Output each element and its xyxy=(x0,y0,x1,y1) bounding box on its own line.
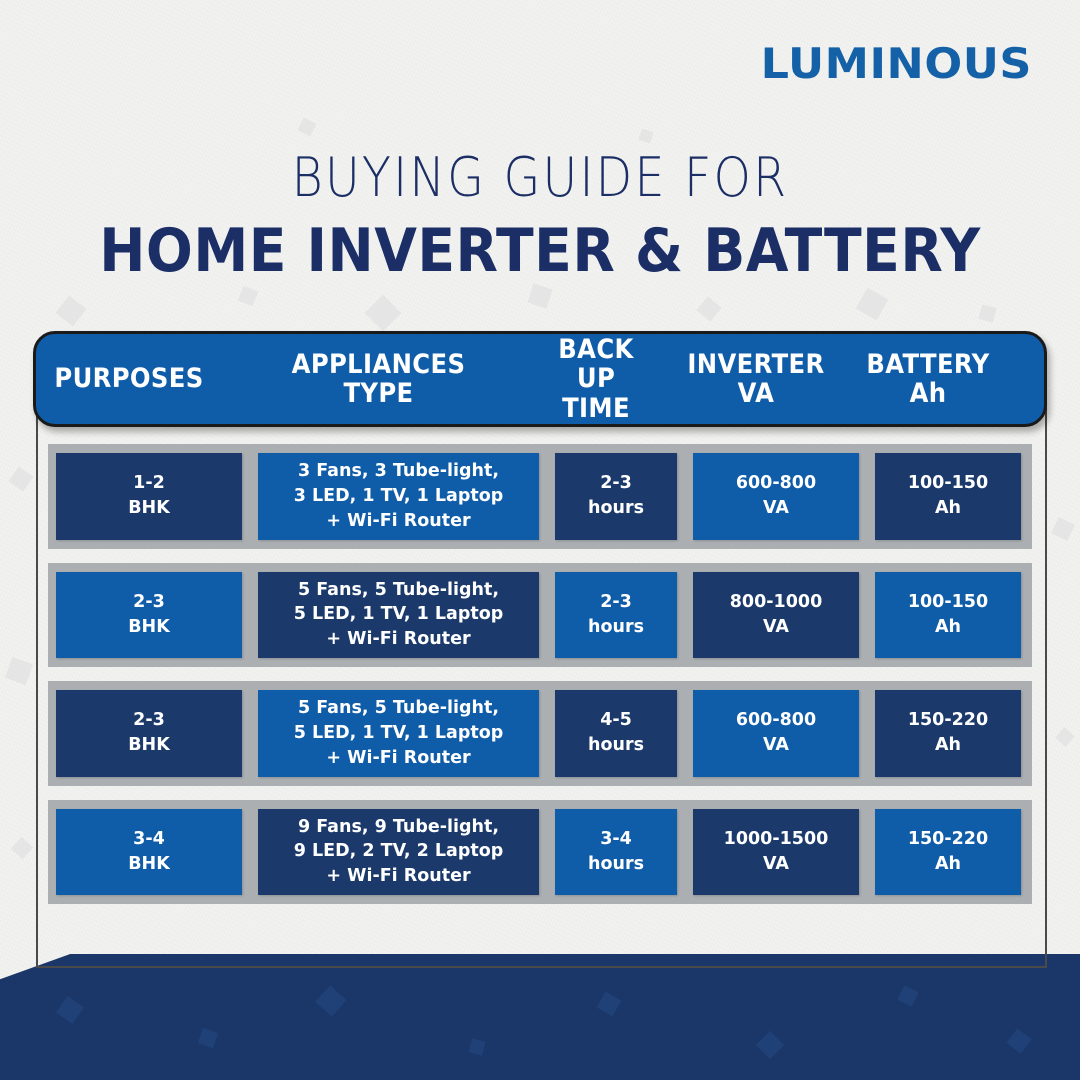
column-header-inverter-va: INVERTERVA xyxy=(681,334,830,424)
column-header-text: Ah xyxy=(910,378,947,409)
decorative-diamond xyxy=(527,283,552,308)
decorative-diamond xyxy=(238,286,259,307)
page-title-line2: HOME INVERTER & BATTERY xyxy=(43,216,1037,286)
decorative-diamond xyxy=(1055,727,1075,747)
cell-gap xyxy=(242,572,258,659)
cell-gap xyxy=(539,690,555,777)
cell-gap xyxy=(242,690,258,777)
cell-battery-ah: 150-220Ah xyxy=(875,690,1021,777)
cell-gap xyxy=(539,453,555,540)
cell-inverter-va: 600-800VA xyxy=(693,453,859,540)
decorative-diamond xyxy=(11,837,34,860)
cell-purposes: 1-2BHK xyxy=(56,453,242,540)
cell-purposes: 2-3BHK xyxy=(56,690,242,777)
cell-appliances: 9 Fans, 9 Tube-light,9 LED, 2 TV, 2 Lapt… xyxy=(258,809,539,896)
page-title-line1: BUYING GUIDE FOR xyxy=(65,146,1015,209)
column-header-text: VA xyxy=(738,378,775,409)
cell-gap xyxy=(242,453,258,540)
cell-gap xyxy=(859,809,875,896)
column-header-purposes: PURPOSES xyxy=(45,334,212,424)
decorative-diamond xyxy=(56,296,87,327)
column-header-text: TIME xyxy=(562,393,630,424)
cell-backup-time: 2-3hours xyxy=(555,572,677,659)
table-row: 2-3BHK 5 Fans, 5 Tube-light,5 LED, 1 TV,… xyxy=(48,681,1032,786)
cell-battery-ah: 100-150Ah xyxy=(875,453,1021,540)
cell-inverter-va: 600-800VA xyxy=(693,690,859,777)
band-diamond xyxy=(468,1038,485,1055)
cell-gap xyxy=(677,809,693,896)
cell-gap xyxy=(677,690,693,777)
cell-appliances: 3 Fans, 3 Tube-light,3 LED, 1 TV, 1 Lapt… xyxy=(258,453,539,540)
cell-purposes: 2-3BHK xyxy=(56,572,242,659)
band-diamond xyxy=(56,996,84,1024)
decorative-diamond xyxy=(5,657,33,685)
column-header-text: TYPE xyxy=(343,378,413,409)
cell-gap xyxy=(242,809,258,896)
decorative-diamond xyxy=(8,466,33,491)
luminous-logo: LUMINOUS xyxy=(761,43,1032,85)
cell-backup-time: 3-4hours xyxy=(555,809,677,896)
band-diamond xyxy=(1006,1028,1031,1053)
cell-gap xyxy=(677,453,693,540)
cell-battery-ah: 150-220Ah xyxy=(875,809,1021,896)
cell-gap xyxy=(677,572,693,659)
table-row: 3-4BHK 9 Fans, 9 Tube-light,9 LED, 2 TV,… xyxy=(48,800,1032,905)
band-diamond xyxy=(756,1031,784,1059)
column-header-battery-ah: BATTERYAh xyxy=(862,334,993,424)
decorative-diamond xyxy=(978,304,996,322)
decorative-diamond xyxy=(365,295,402,332)
cell-backup-time: 4-5hours xyxy=(555,690,677,777)
cell-inverter-va: 1000-1500VA xyxy=(693,809,859,896)
decorative-diamond xyxy=(856,288,889,321)
cell-gap xyxy=(859,690,875,777)
band-diamond xyxy=(897,985,918,1006)
decorative-diamond xyxy=(696,296,721,321)
cell-gap xyxy=(859,453,875,540)
cell-inverter-va: 800-1000VA xyxy=(693,572,859,659)
column-header-back-up-time: BACK UPTIME xyxy=(541,334,651,424)
column-header-text: APPLIANCES xyxy=(292,349,466,380)
cell-backup-time: 2-3hours xyxy=(555,453,677,540)
column-header-text: BATTERY xyxy=(866,349,989,380)
band-diamond xyxy=(315,985,346,1016)
band-diamond xyxy=(597,992,622,1017)
cell-appliances: 5 Fans, 5 Tube-light,5 LED, 1 TV, 1 Lapt… xyxy=(258,572,539,659)
decorative-diamond xyxy=(1051,517,1075,541)
cell-gap xyxy=(539,809,555,896)
cell-gap xyxy=(539,572,555,659)
cell-battery-ah: 100-150Ah xyxy=(875,572,1021,659)
cell-appliances: 5 Fans, 5 Tube-light,5 LED, 1 TV, 1 Lapt… xyxy=(258,690,539,777)
column-header-appliances-type: APPLIANCESTYPE xyxy=(252,334,505,424)
band-diamond xyxy=(198,1028,219,1049)
cell-purposes: 3-4BHK xyxy=(56,809,242,896)
decorative-diamond xyxy=(298,118,317,137)
table-row: 1-2BHK 3 Fans, 3 Tube-light,3 LED, 1 TV,… xyxy=(48,444,1032,549)
table-header-bar: PURPOSES APPLIANCESTYPE BACK UPTIME INVE… xyxy=(33,331,1047,427)
column-header-text: BACK UP xyxy=(558,334,633,394)
table-row: 2-3BHK 5 Fans, 5 Tube-light,5 LED, 1 TV,… xyxy=(48,563,1032,668)
column-header-text: INVERTER xyxy=(687,349,824,380)
column-header-text: PURPOSES xyxy=(54,363,203,394)
cell-gap xyxy=(859,572,875,659)
decorative-diamond xyxy=(638,128,653,143)
table-body: 1-2BHK 3 Fans, 3 Tube-light,3 LED, 1 TV,… xyxy=(48,444,1032,918)
